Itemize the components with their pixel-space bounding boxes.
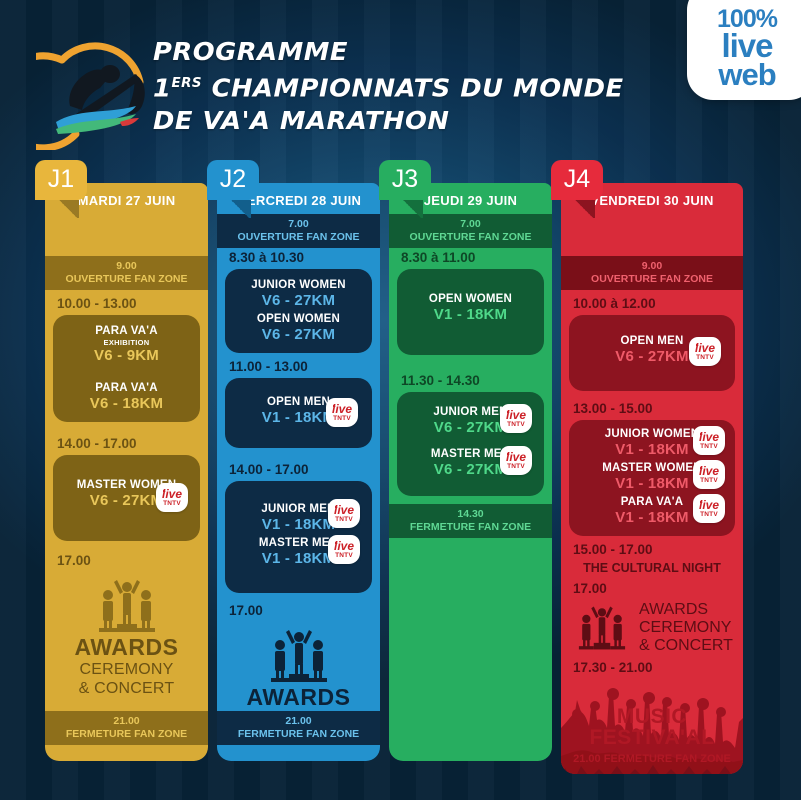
- tntv-channel-text: TNTV: [335, 552, 353, 559]
- title-line-3: DE VA'A MARATHON: [153, 104, 637, 137]
- music-festival-line2: FESTIVA'AL: [561, 727, 743, 748]
- fanzone-close-j3: 14.30 FERMETURE FAN ZONE: [389, 504, 552, 538]
- slot-time-j2-2: 11.00 - 13.00: [217, 353, 380, 378]
- tntv-channel-text: TNTV: [700, 443, 718, 450]
- race-item: OPEN WOMEN V6 - 27KM: [231, 311, 366, 345]
- race-box-j3-1: OPEN WOMEN V1 - 18KM: [397, 269, 544, 355]
- fanzone-open-time-j1: 9.00: [47, 260, 206, 273]
- tntv-live-icon: live TNTV: [328, 499, 360, 528]
- fanzone-close-time-j2: 21.00: [219, 715, 378, 728]
- awards-time-j4: 17.00: [561, 579, 743, 600]
- tntv-live-icon: live TNTV: [328, 535, 360, 564]
- slot-time-j3-1: 8.30 à 11.00: [389, 248, 552, 269]
- race-item: JUNIOR WOMEN V6 - 27KM: [231, 277, 366, 311]
- awards-block-j1: AWARDS CEREMONY & CONCERT: [45, 572, 208, 698]
- awards-podium-icon: [569, 600, 635, 656]
- awards-line2-j4: & CONCERT: [639, 637, 733, 655]
- race-box-j2-3: JUNIOR MEN V1 - 18KM live TNTV MASTER ME…: [225, 481, 372, 593]
- race-name: OPEN WOMEN: [403, 292, 538, 306]
- tntv-live-text: live: [506, 410, 526, 421]
- fanzone-open-j1: 9.00 OUVERTURE FAN ZONE: [45, 256, 208, 290]
- day-column-j4: VENDREDI 30 JUIN 9.00 OUVERTURE FAN ZONE…: [561, 183, 743, 774]
- cultural-time-j4: 15.00 - 17.00: [561, 536, 743, 561]
- race-item: MASTER MEN V6 - 27KM live TNTV: [403, 446, 538, 480]
- fanzone-open-time-j3: 7.00: [391, 218, 550, 231]
- race-box-j2-1: JUNIOR WOMEN V6 - 27KM OPEN WOMEN V6 - 2…: [225, 269, 372, 353]
- race-item: OPEN MEN V1 - 18KM live TNTV: [231, 394, 366, 428]
- tntv-channel-text: TNTV: [335, 516, 353, 523]
- tntv-live-icon: live TNTV: [500, 404, 532, 433]
- awards-podium-icon: [87, 578, 167, 634]
- tntv-live-text: live: [695, 343, 715, 354]
- awards-time-j1: 17.00: [45, 541, 208, 572]
- music-festival-line1: MUSIC: [561, 706, 743, 727]
- day-tab-fold-j1: [57, 200, 79, 218]
- badge-web-text: web: [718, 61, 775, 90]
- race-box-j4-1: OPEN MEN V6 - 27KM live TNTV: [569, 315, 735, 391]
- tntv-channel-text: TNTV: [700, 477, 718, 484]
- tntv-channel-text: TNTV: [507, 463, 525, 470]
- race-subtitle: EXHIBITION: [59, 338, 194, 347]
- fanzone-close-time-j1: 21.00: [47, 715, 206, 728]
- awards-line1-j4: CEREMONY: [639, 619, 733, 637]
- fanzone-open-j3: 7.00 OUVERTURE FAN ZONE: [389, 214, 552, 248]
- tntv-live-text: live: [332, 404, 352, 415]
- fanzone-close-time-j3: 14.30: [391, 508, 550, 521]
- tntv-channel-text: TNTV: [163, 500, 181, 507]
- tntv-channel-text: TNTV: [696, 354, 714, 361]
- race-name: OPEN WOMEN: [231, 312, 366, 326]
- tntv-live-text: live: [699, 500, 719, 511]
- tntv-channel-text: TNTV: [507, 421, 525, 428]
- fanzone-open-label-j3: OUVERTURE FAN ZONE: [391, 231, 550, 244]
- fanzone-close-j1: 21.00 FERMETURE FAN ZONE: [45, 711, 208, 745]
- day-tab-j2[interactable]: J2: [207, 160, 259, 200]
- slot-time-j1-1: 10.00 - 13.00: [45, 290, 208, 315]
- race-name: PARA VA'A: [59, 324, 194, 338]
- day-tab-fold-j3: [401, 200, 423, 218]
- slot-time-j2-1: 8.30 à 10.30: [217, 248, 380, 269]
- tntv-live-icon: live TNTV: [689, 337, 721, 366]
- race-distance: V1 - 18KM: [403, 306, 538, 324]
- tntv-live-text: live: [699, 432, 719, 443]
- title-line-1: PROGRAMME: [153, 36, 637, 67]
- live-web-badge: 100% live web: [687, 0, 801, 100]
- fanzone-open-label-j1: OUVERTURE FAN ZONE: [47, 273, 206, 286]
- awards-podium-icon: [259, 628, 339, 684]
- day-column-j2: MERCREDI 28 JUIN 7.00 OUVERTURE FAN ZONE…: [217, 183, 380, 761]
- race-item: PARA VA'A EXHIBITION V6 - 9KM: [59, 323, 194, 366]
- race-box-j3-2: JUNIOR MEN V6 - 27KM live TNTV MASTER ME…: [397, 392, 544, 496]
- page-title: PROGRAMME 1ERS CHAMPIONNATS DU MONDE DE …: [153, 36, 623, 137]
- race-distance: V6 - 27KM: [231, 326, 366, 344]
- race-item: JUNIOR MEN V1 - 18KM live TNTV: [231, 501, 366, 535]
- race-distance: V6 - 18KM: [59, 395, 194, 413]
- tntv-live-icon: live TNTV: [693, 460, 725, 489]
- fanzone-close-j4: 21.00 FERMETURE FAN ZONE: [561, 753, 743, 765]
- day-column-j3: JEUDI 29 JUIN 7.00 OUVERTURE FAN ZONE 8.…: [389, 183, 552, 761]
- poster-root: PROGRAMME 1ERS CHAMPIONNATS DU MONDE DE …: [0, 0, 801, 800]
- fanzone-close-label-j3: FERMETURE FAN ZONE: [391, 521, 550, 534]
- tntv-live-icon: live TNTV: [693, 494, 725, 523]
- tntv-live-text: live: [699, 466, 719, 477]
- day-tab-j3[interactable]: J3: [379, 160, 431, 200]
- fanzone-open-j2: 7.00 OUVERTURE FAN ZONE: [217, 214, 380, 248]
- day-tab-j1[interactable]: J1: [35, 160, 87, 200]
- fanzone-open-time-j4: 9.00: [563, 260, 741, 273]
- tntv-live-text: live: [334, 505, 354, 516]
- awards-block-j4: AWARDS CEREMONY & CONCERT: [561, 600, 743, 656]
- tntv-channel-text: TNTV: [333, 415, 351, 422]
- tntv-live-text: live: [162, 489, 182, 500]
- fanzone-close-j2: 21.00 FERMETURE FAN ZONE: [217, 711, 380, 745]
- fanzone-open-j4: 9.00 OUVERTURE FAN ZONE: [561, 256, 743, 290]
- race-item: MASTER MEN V1 - 18KM live TNTV: [231, 535, 366, 569]
- fanzone-open-label-j2: OUVERTURE FAN ZONE: [219, 231, 378, 244]
- fanzone-open-label-j4: OUVERTURE FAN ZONE: [563, 273, 741, 286]
- fanzone-close-label-j1: FERMETURE FAN ZONE: [47, 728, 206, 741]
- race-item: MASTER WOMEN V1 - 18KM live TNTV: [575, 460, 729, 494]
- day-column-j1: MARDI 27 JUIN 9.00 OUVERTURE FAN ZONE 10…: [45, 183, 208, 761]
- vaa-paddler-logo: [36, 30, 162, 150]
- slot-time-j4-1: 10.00 à 12.00: [561, 290, 743, 315]
- race-box-j2-2: OPEN MEN V1 - 18KM live TNTV: [225, 378, 372, 448]
- tntv-live-icon: live TNTV: [156, 483, 188, 512]
- awards-line1-j1: CEREMONY: [45, 660, 208, 679]
- awards-title-j4: AWARDS: [639, 601, 733, 619]
- slot-time-j3-2: 11.30 - 14.30: [389, 355, 552, 392]
- day-tab-fold-j2: [229, 200, 251, 218]
- race-box-j1-2: MASTER WOMEN V6 - 27KM live TNTV: [53, 455, 200, 541]
- race-box-j4-2: JUNIOR WOMEN V1 - 18KM live TNTV MASTER …: [569, 420, 735, 536]
- race-name: PARA VA'A: [59, 381, 194, 395]
- tntv-live-text: live: [506, 452, 526, 463]
- slot-time-j4-2: 13.00 - 15.00: [561, 391, 743, 420]
- title-line-2: 1ERS CHAMPIONNATS DU MONDE: [153, 67, 637, 104]
- race-item: OPEN MEN V6 - 27KM live TNTV: [575, 333, 729, 367]
- slot-time-j2-3: 14.00 - 17.00: [217, 448, 380, 481]
- fanzone-close-label-j2: FERMETURE FAN ZONE: [219, 728, 378, 741]
- day-tab-j4[interactable]: J4: [551, 160, 603, 200]
- race-item: MASTER WOMEN V6 - 27KM live TNTV: [59, 477, 194, 511]
- race-item: JUNIOR MEN V6 - 27KM live TNTV: [403, 404, 538, 438]
- awards-title-j1: AWARDS: [45, 634, 208, 660]
- music-festival-title: MUSIC FESTIVA'AL: [561, 706, 743, 748]
- race-box-j1-1: PARA VA'A EXHIBITION V6 - 9KM PARA VA'A …: [53, 315, 200, 422]
- race-item: PARA VA'A V6 - 18KM: [59, 380, 194, 414]
- fanzone-open-time-j2: 7.00: [219, 218, 378, 231]
- tntv-live-icon: live TNTV: [500, 446, 532, 475]
- race-distance: V6 - 9KM: [59, 347, 194, 365]
- race-item: OPEN WOMEN V1 - 18KM: [403, 291, 538, 325]
- awards-title-j2: AWARDS: [217, 684, 380, 710]
- race-distance: V6 - 27KM: [231, 292, 366, 310]
- awards-line2-j1: & CONCERT: [45, 679, 208, 698]
- tntv-live-icon: live TNTV: [693, 426, 725, 455]
- day-tab-fold-j4: [573, 200, 595, 218]
- cultural-label-j4: THE CULTURAL NIGHT: [561, 561, 743, 579]
- race-item: PARA VA'A V1 - 18KM live TNTV: [575, 494, 729, 528]
- slot-time-j1-2: 14.00 - 17.00: [45, 422, 208, 455]
- tntv-live-icon: live TNTV: [326, 398, 358, 427]
- race-item: JUNIOR WOMEN V1 - 18KM live TNTV: [575, 426, 729, 460]
- awards-time-j2: 17.00: [217, 593, 380, 622]
- tntv-live-text: live: [334, 541, 354, 552]
- tntv-channel-text: TNTV: [700, 511, 718, 518]
- race-name: JUNIOR WOMEN: [231, 278, 366, 292]
